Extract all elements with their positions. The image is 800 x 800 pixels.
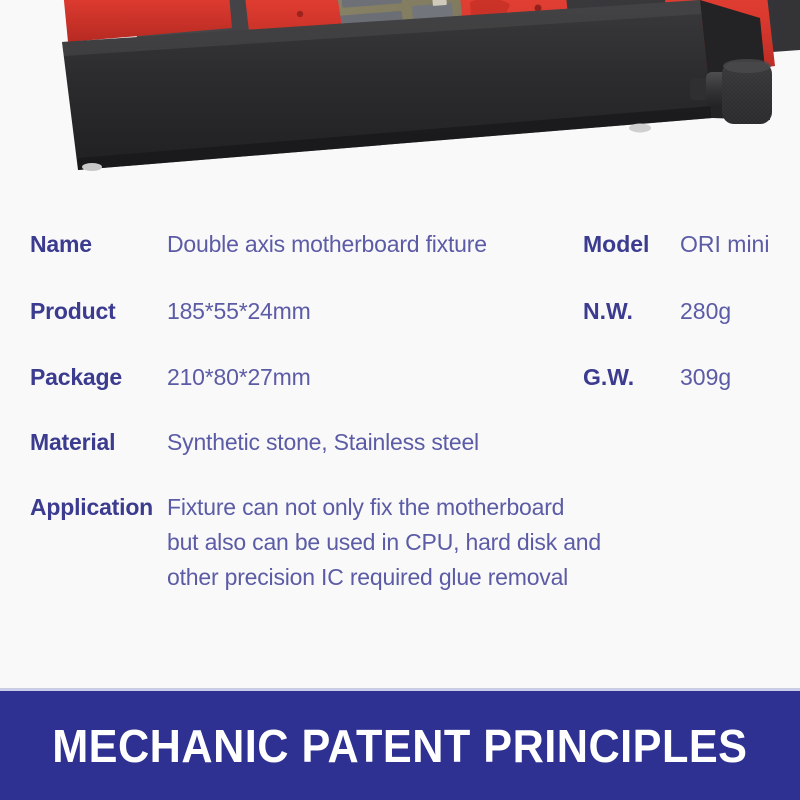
spec-value-name: Double axis motherboard fixture: [167, 231, 487, 258]
spec-label-material: Material: [30, 429, 115, 456]
spec-table: Name Double axis motherboard fixture Mod…: [0, 195, 800, 690]
spec-label-name: Name: [30, 231, 92, 258]
spec-value-model: ORI mini: [680, 231, 769, 258]
spec-value-application-line-3: other precision IC required glue removal: [167, 564, 568, 591]
spec-value-material: Synthetic stone, Stainless steel: [167, 429, 479, 456]
spec-label-net-weight: N.W.: [583, 298, 633, 325]
spec-label-application: Application: [30, 494, 153, 521]
spec-label-product: Product: [30, 298, 116, 325]
spec-value-gross-weight: 309g: [680, 364, 731, 391]
spec-value-net-weight: 280g: [680, 298, 731, 325]
spec-label-gross-weight: G.W.: [583, 364, 634, 391]
banner-title: MECHANIC PATENT PRINCIPLES: [52, 719, 747, 773]
rubber-foot-right: [629, 124, 651, 133]
spec-label-package: Package: [30, 364, 122, 391]
rubber-foot-left: [82, 163, 102, 171]
bottom-banner: MECHANIC PATENT PRINCIPLES: [0, 691, 800, 800]
product-photo-illustration: [0, 0, 800, 195]
product-photo: [0, 0, 800, 195]
product-spec-page: Name Double axis motherboard fixture Mod…: [0, 0, 800, 800]
spec-value-application-line-1: Fixture can not only fix the motherboard: [167, 494, 564, 521]
knob-top-face: [723, 59, 771, 73]
spec-value-application-line-2: but also can be used in CPU, hard disk a…: [167, 529, 601, 556]
spec-value-product: 185*55*24mm: [167, 298, 311, 325]
spec-label-model: Model: [583, 231, 649, 258]
spec-value-package: 210*80*27mm: [167, 364, 311, 391]
